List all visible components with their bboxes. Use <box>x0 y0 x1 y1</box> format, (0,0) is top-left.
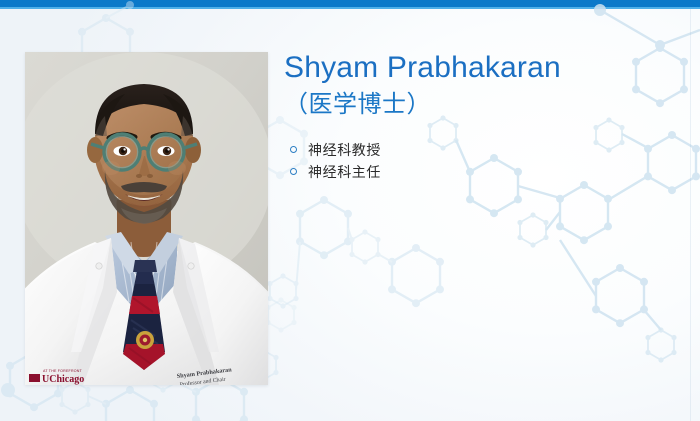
person-degree: （医学博士） <box>284 88 684 122</box>
credential-label: 神经科教授 <box>308 142 381 158</box>
slide-canvas: AT THE FOREFRONT UChicago Medicine Shyam… <box>0 0 700 421</box>
top-accent-bar <box>0 0 700 7</box>
bullet-circle-icon <box>290 146 297 153</box>
top-accent-bar-light <box>0 7 700 9</box>
portrait-illustration: AT THE FOREFRONT UChicago Medicine Shyam… <box>25 52 268 385</box>
credentials-list: 神经科教授 神经科主任 <box>284 139 684 183</box>
right-edge-rule <box>690 9 691 421</box>
list-item: 神经科教授 <box>288 139 684 161</box>
portrait-photo: AT THE FOREFRONT UChicago Medicine Shyam… <box>25 52 268 385</box>
person-name: Shyam Prabhakaran <box>284 48 684 88</box>
svg-text:UChicago: UChicago <box>42 374 84 385</box>
bullet-circle-icon <box>290 168 297 175</box>
person-info-block: Shyam Prabhakaran （医学博士） 神经科教授 神经科主任 <box>284 48 684 183</box>
credential-label: 神经科主任 <box>308 164 381 180</box>
list-item: 神经科主任 <box>288 161 684 183</box>
svg-text:AT THE FOREFRONT: AT THE FOREFRONT <box>43 369 83 373</box>
